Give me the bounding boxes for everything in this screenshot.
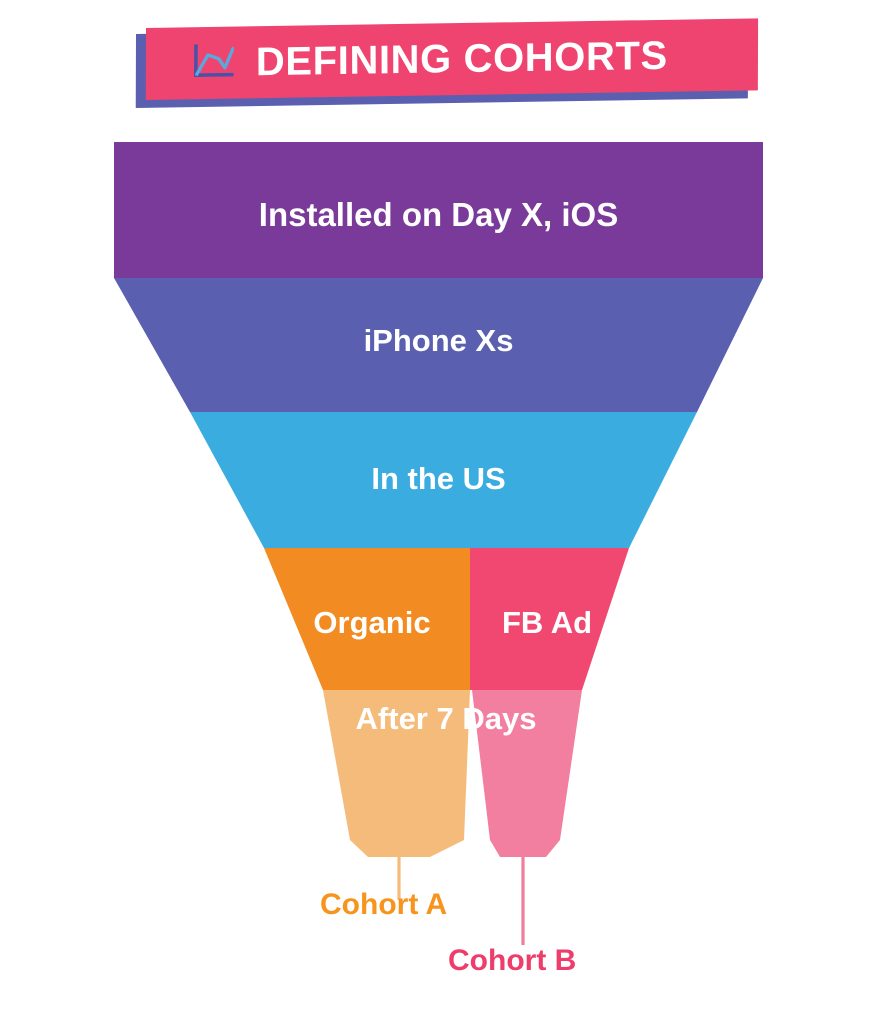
funnel-diagram bbox=[0, 0, 887, 1024]
cohort-a-label: Cohort A bbox=[320, 888, 447, 922]
funnel-stage-iphone[interactable] bbox=[114, 278, 763, 412]
funnel-retention-cohort-b[interactable] bbox=[472, 690, 582, 857]
infographic-canvas: DEFINING COHORTS Installed on Day X, iOS… bbox=[0, 0, 887, 1024]
funnel-branch-organic[interactable] bbox=[264, 548, 470, 690]
funnel-branch-fb-ad[interactable] bbox=[470, 548, 629, 690]
funnel-stage-installed[interactable] bbox=[114, 142, 763, 278]
cohort-b-label: Cohort B bbox=[448, 944, 576, 978]
funnel-stage-us[interactable] bbox=[190, 412, 697, 548]
funnel-retention-cohort-a[interactable] bbox=[323, 690, 470, 857]
